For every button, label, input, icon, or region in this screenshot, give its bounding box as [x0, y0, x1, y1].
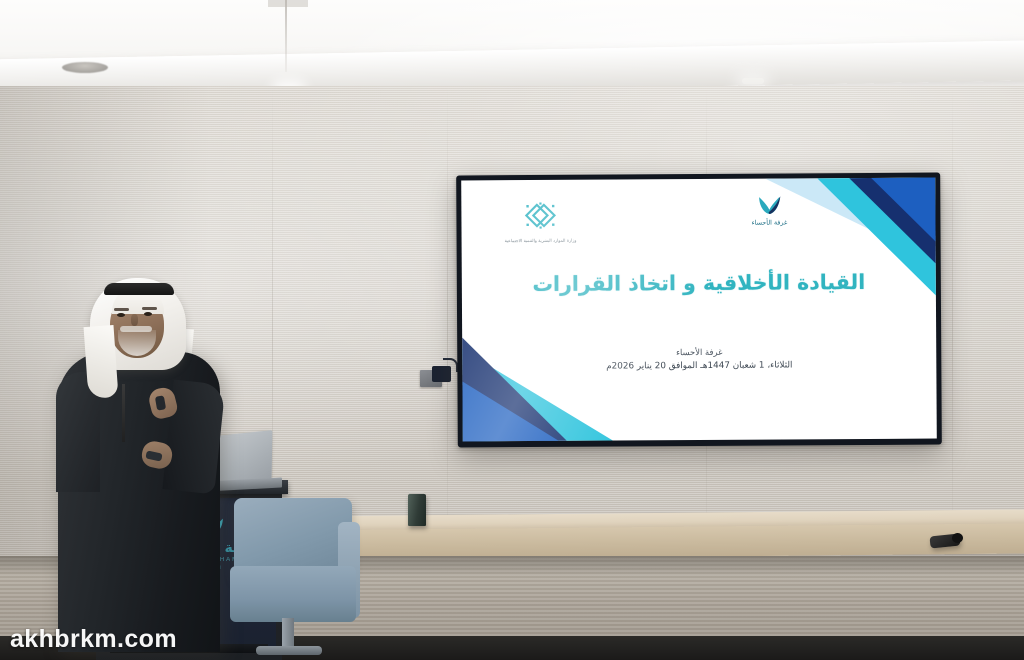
deco-triangle-blue — [462, 381, 558, 442]
photo-scene: وزارة الموارد البشرية والتنمية الاجتماعي… — [0, 0, 1024, 660]
ceiling-fixture-box — [268, 0, 308, 7]
tumbler[interactable] — [408, 494, 426, 526]
wall-panel-seam — [447, 86, 448, 586]
speaker-eye-left — [117, 313, 125, 317]
chamber-leaf-icon — [756, 194, 782, 216]
ghutra-drape-left — [84, 325, 119, 399]
power-cable — [443, 358, 458, 372]
ceiling-pendant-wire — [285, 0, 287, 72]
chamber-logo: غرفة الأحساء — [723, 194, 815, 253]
smoke-detector-icon — [62, 62, 108, 73]
watermark: akhbrkm.com — [10, 625, 177, 654]
speaker-brow-left — [114, 308, 129, 311]
deco-triangle-blue — [871, 178, 935, 242]
armchair-base — [256, 646, 322, 655]
chamber-logo-caption: غرفة الأحساء — [723, 218, 815, 227]
ministry-logo-caption: وزارة الموارد البشرية والتنمية الاجتماعي… — [502, 239, 580, 246]
presentation-slide: وزارة الموارد البشرية والتنمية الاجتماعي… — [461, 178, 937, 442]
wall-mounted-display[interactable]: وزارة الموارد البشرية والتنمية الاجتماعي… — [456, 173, 942, 448]
slide-title: القيادة الأخلاقية و اتخاذ القرارات — [462, 270, 936, 297]
slide-subtitle-date: الثلاثاء، 1 شعبان 1447هـ الموافق 20 يناي… — [462, 360, 936, 373]
speaker-nose — [131, 314, 138, 326]
speaker-iqal — [104, 283, 174, 295]
speaker-brow-right — [142, 307, 157, 310]
ministry-logo: وزارة الموارد البشرية والتنمية الاجتماعي… — [501, 202, 579, 258]
lapel-microphone-cable — [122, 384, 125, 442]
speaker-eye-right — [144, 312, 152, 316]
downlight-icon — [742, 78, 764, 84]
armchair-seat[interactable] — [230, 566, 356, 622]
slide-subtitle-organization: غرفة الأحساء — [462, 346, 936, 359]
